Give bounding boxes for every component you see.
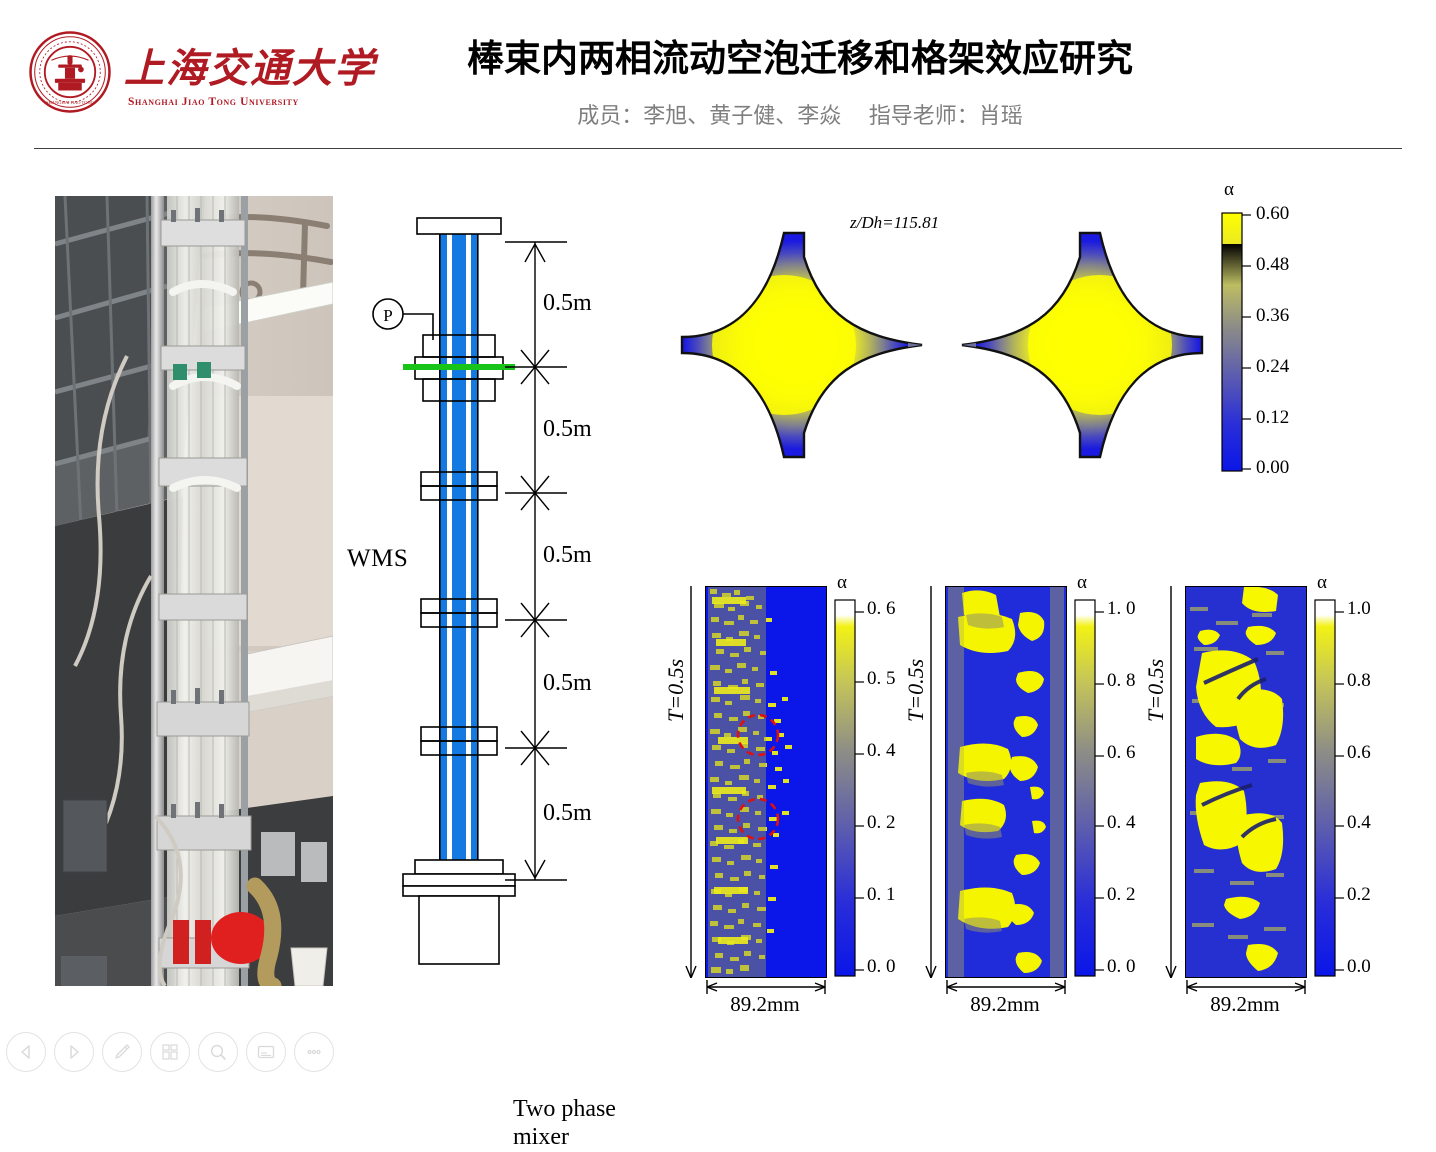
dimension-label-4: 0.5m: [543, 670, 592, 697]
wms-cb1-tick-4: 0. 1: [867, 884, 896, 906]
contour-plot-canvas: [672, 195, 1212, 495]
wms-panel-churn: T=0.5s: [1145, 572, 1395, 1012]
two-phase-mixer-label: Two phase mixer: [513, 1095, 616, 1152]
sjtu-seal-icon: SHANGHAI JIAO TONG: [28, 30, 112, 114]
wms-cb2-tick-2: 0. 6: [1107, 742, 1136, 764]
dimension-label-5: 0.5m: [543, 800, 592, 827]
wms-time-arrow-3: [1163, 586, 1179, 978]
wms-image-churn: [1185, 586, 1307, 978]
colorbar-alpha-label: α: [1224, 179, 1234, 201]
wms-cb2-tick-5: 0. 0: [1107, 956, 1136, 978]
mixer-label-line1: Two phase: [513, 1095, 616, 1123]
slide-subtitle: 成员：李旭、黄子健、李焱 指导老师：肖瑶: [360, 98, 1240, 130]
wms-panel-slug: T=0.5s: [905, 572, 1155, 1012]
wms-width-label-2: 89.2mm: [941, 992, 1069, 1017]
wms-cb2-tick-1: 0. 8: [1107, 670, 1136, 692]
wms-time-arrow-1: [683, 586, 699, 978]
wms-cb2-tick-3: 0. 4: [1107, 812, 1136, 834]
captions-icon: [256, 1042, 276, 1062]
colorbar-tick-5: 0.00: [1256, 457, 1289, 479]
dimension-label-1: 0.5m: [543, 290, 592, 317]
next-slide-button[interactable]: [54, 1032, 94, 1072]
dimension-label-3: 0.5m: [543, 542, 592, 569]
logo-name-cn: 上海交通大学: [124, 36, 376, 94]
wms-colorbar-alpha-3: α: [1317, 572, 1327, 594]
colorbar-tick-1: 0.48: [1256, 254, 1289, 276]
slide-title: 棒束内两相流动空泡迁移和格架效应研究: [360, 40, 1240, 81]
wms-colorbar-alpha-2: α: [1077, 572, 1087, 594]
wms-colorbar-2: α 1. 0 0. 8 0. 6 0. 4 0. 2 0. 0: [1073, 586, 1153, 978]
wms-colorbar-3: α 1.0 0.8 0.6 0.4 0.2 0.0: [1313, 586, 1393, 978]
university-logo: SHANGHAI JIAO TONG 上海交通大学 Shanghai Jiao …: [28, 26, 343, 126]
wms-cb1-tick-3: 0. 2: [867, 812, 896, 834]
wms-panel-bubbly: T=0.5s: [665, 572, 915, 1012]
colorbar-tick-2: 0.36: [1256, 305, 1289, 327]
contour-annotation: z/Dh=115.81: [850, 213, 939, 233]
all-slides-icon: [160, 1042, 180, 1062]
wms-cb3-tick-4: 0.2: [1347, 884, 1371, 906]
dimension-label-2: 0.5m: [543, 416, 592, 443]
wms-cb3-tick-3: 0.4: [1347, 812, 1371, 834]
photo-content: [55, 196, 333, 986]
test-loop-schematic: P WMS 0.5m: [345, 190, 665, 990]
more-options-icon: [304, 1042, 324, 1062]
pen-icon: [112, 1042, 132, 1062]
wms-cb3-tick-0: 1.0: [1347, 598, 1371, 620]
previous-slide-button[interactable]: [6, 1032, 46, 1072]
wms-label: WMS: [347, 545, 408, 573]
slide-header: SHANGHAI JIAO TONG 上海交通大学 Shanghai Jiao …: [0, 0, 1436, 150]
wms-cb2-tick-0: 1. 0: [1107, 598, 1136, 620]
all-slides-button[interactable]: [150, 1032, 190, 1072]
colorbar-tick-0: 0.60: [1256, 203, 1289, 225]
subchannel-void-fraction-contour: z/Dh=115.81 α: [672, 185, 1312, 505]
more-options-button[interactable]: [294, 1032, 334, 1072]
wms-width-label-1: 89.2mm: [701, 992, 829, 1017]
wms-cb3-tick-5: 0.0: [1347, 956, 1371, 978]
contour-subchannel-left: [672, 195, 942, 495]
svg-text:SHANGHAI JIAO TONG: SHANGHAI JIAO TONG: [46, 100, 95, 105]
schematic-drawing: P: [345, 190, 665, 990]
wms-cb2-tick-4: 0. 2: [1107, 884, 1136, 906]
wms-cb1-tick-5: 0. 0: [867, 956, 896, 978]
wms-cb3-tick-1: 0.8: [1347, 670, 1371, 692]
logo-name-en: Shanghai Jiao Tong University: [128, 96, 299, 108]
rod-bundle-test-facility-photo: [55, 196, 333, 986]
presentation-toolbar: [0, 1030, 340, 1080]
contour-colorbar: α: [1218, 185, 1314, 495]
wms-cb1-tick-2: 0. 4: [867, 740, 896, 762]
colorbar-tick-3: 0.24: [1256, 356, 1289, 378]
pressure-tap-label: P: [383, 306, 392, 325]
wms-image-slug: [945, 586, 1067, 978]
wms-image-bubbly: [705, 586, 827, 978]
zoom-button[interactable]: [198, 1032, 238, 1072]
previous-slide-icon: [17, 1043, 35, 1061]
captions-button[interactable]: [246, 1032, 286, 1072]
contour-annotation-text: z/Dh=115.81: [850, 213, 939, 232]
header-divider: [34, 148, 1402, 149]
wms-cb3-tick-2: 0.6: [1347, 742, 1371, 764]
mixer-label-line2: mixer: [513, 1123, 616, 1151]
next-slide-icon: [65, 1043, 83, 1061]
colorbar-tick-4: 0.12: [1256, 407, 1289, 429]
wms-colorbar-alpha-1: α: [837, 572, 847, 594]
pen-button[interactable]: [102, 1032, 142, 1072]
wms-time-arrow-2: [923, 586, 939, 978]
wms-cb1-tick-1: 0. 5: [867, 668, 896, 690]
wms-colorbar-1: α: [833, 586, 913, 978]
wms-cb1-tick-0: 0. 6: [867, 598, 896, 620]
contour-subchannel-right: [942, 195, 1212, 495]
wms-width-label-3: 89.2mm: [1181, 992, 1309, 1017]
colorbar-gradient: [1218, 209, 1314, 479]
zoom-icon: [208, 1042, 228, 1062]
